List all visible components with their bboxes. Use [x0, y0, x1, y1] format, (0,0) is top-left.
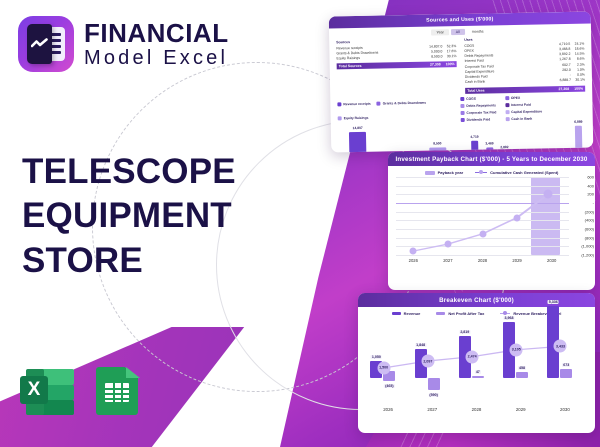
excel-x-letter: X	[20, 376, 48, 404]
card-title-sources: Sources and Uses ($'000)	[329, 11, 591, 28]
card-title-payback: Investment Payback Chart ($'000) - 5 Yea…	[388, 152, 595, 166]
data-point	[544, 190, 553, 199]
brand-logo: FINANCIAL Model Excel	[18, 16, 229, 72]
sources-uses-bar-charts: 14,807 5,000 8,500 4,719 3,469 2,892 1,2…	[331, 121, 593, 152]
bar: 47	[472, 376, 484, 378]
data-point	[444, 241, 451, 248]
cover-graphic: FINANCIAL Model Excel TELESCOPE EQUIPMEN…	[0, 0, 600, 447]
breakeven-data-point: 3,433	[554, 340, 567, 353]
legend-item: Revenue	[392, 311, 421, 316]
sources-column: Sources Revenue receipts14,807.052.3% Gr…	[336, 38, 457, 96]
breakeven-data-point: 2,474	[466, 350, 479, 363]
bar: 673	[560, 369, 572, 378]
legend-item: Corporate Tax Paid	[460, 110, 499, 115]
card-investment-payback[interactable]: Investment Payback Chart ($'000) - 5 Yea…	[388, 152, 595, 290]
legend-sources: Revenue receipts Grants & Debts Drawdown…	[330, 94, 453, 126]
sources-bar-chart: 14,807 5,000 8,500	[339, 124, 457, 153]
financial-model-logo-icon	[18, 16, 74, 72]
legend-item: COGS	[460, 96, 499, 101]
excel-file-icon: X	[20, 363, 74, 417]
payback-plot: 600 400 200 - (200) (400) (600) (800) (1…	[396, 177, 569, 255]
toggle-note: months	[467, 28, 489, 34]
page-title: TELESCOPE EQUIPMENT STORE	[22, 150, 272, 283]
toggle-all[interactable]: All	[451, 29, 465, 35]
breakeven-plot: 1,050 (465) 1,848 (590) 2,819 47 3,968 4…	[366, 318, 587, 404]
breakeven-data-point: 2,097	[421, 355, 434, 368]
legend-item: Dividends Paid	[461, 117, 500, 122]
legend-item: Payback year	[425, 170, 464, 175]
table-row: Cash in Bank6,888.730.1%	[465, 78, 585, 86]
brand-name-primary: FINANCIAL	[84, 20, 229, 46]
row-pct: 30.1%	[442, 54, 456, 60]
table-row: Equity Raisings8,500.030.1%	[336, 54, 456, 62]
cumulative-cash-line	[396, 177, 569, 255]
row-value: 8,500.0	[422, 54, 442, 60]
card-breakeven[interactable]: Breakeven Chart ($'000) Revenue Net Prof…	[358, 293, 595, 433]
uses-column: Uses COGS4,719.524.1% OPEX3,468.818.6% D…	[464, 36, 585, 94]
breakeven-x-axis: 2026 2027 2028 2029 2030	[366, 407, 587, 412]
legend-item: Equity Raisings	[338, 112, 369, 124]
legend-item: Net Profit After Tax	[436, 311, 484, 316]
bar: 14,807	[349, 131, 367, 152]
legend-item: Debts Repayments	[460, 103, 499, 108]
legend-item: OPEX	[505, 95, 544, 100]
legend-item: Cumulative Cash Generated (Spent)	[475, 170, 558, 175]
row-label: Equity Raisings	[336, 55, 422, 62]
data-point	[514, 214, 521, 221]
legend-item: Grants & Debts Drawdowns	[377, 97, 427, 109]
file-format-icons: X	[20, 363, 140, 417]
legend-item: Revenue receipts	[337, 98, 371, 110]
data-point	[410, 248, 417, 255]
uses-bar-chart: 4,719 3,469 2,892 1,268 603 282 - 6,889	[468, 121, 586, 152]
sources-total-row: Total Sources27,308100%	[337, 61, 457, 69]
legend-item: Interest Paid	[505, 102, 544, 107]
brand-name-secondary: Model Excel	[84, 48, 229, 68]
data-point	[479, 230, 486, 237]
card-title-breakeven: Breakeven Chart ($'000)	[358, 293, 595, 307]
breakeven-data-point: 1,500	[377, 361, 390, 374]
chart-wave-icon	[27, 24, 52, 64]
legend-item: Cash in Bank	[505, 116, 544, 121]
card-sources-and-uses[interactable]: Sources and Uses ($'000) Year All months…	[329, 11, 594, 152]
toggle-year[interactable]: Year	[431, 29, 448, 35]
google-sheets-file-icon	[94, 363, 140, 417]
bar: 458	[516, 372, 528, 378]
legend-uses: COGS OPEX Debts Repayments Interest Paid…	[453, 91, 593, 124]
legend-item: Capital Expenditure	[505, 109, 544, 114]
breakeven-data-point: 3,105	[510, 343, 523, 356]
bar: (590)	[428, 378, 440, 390]
payback-x-axis: 2026 2027 2028 2029 2030	[396, 258, 569, 263]
legend-payback: Payback year Cumulative Cash Generated (…	[388, 166, 595, 177]
